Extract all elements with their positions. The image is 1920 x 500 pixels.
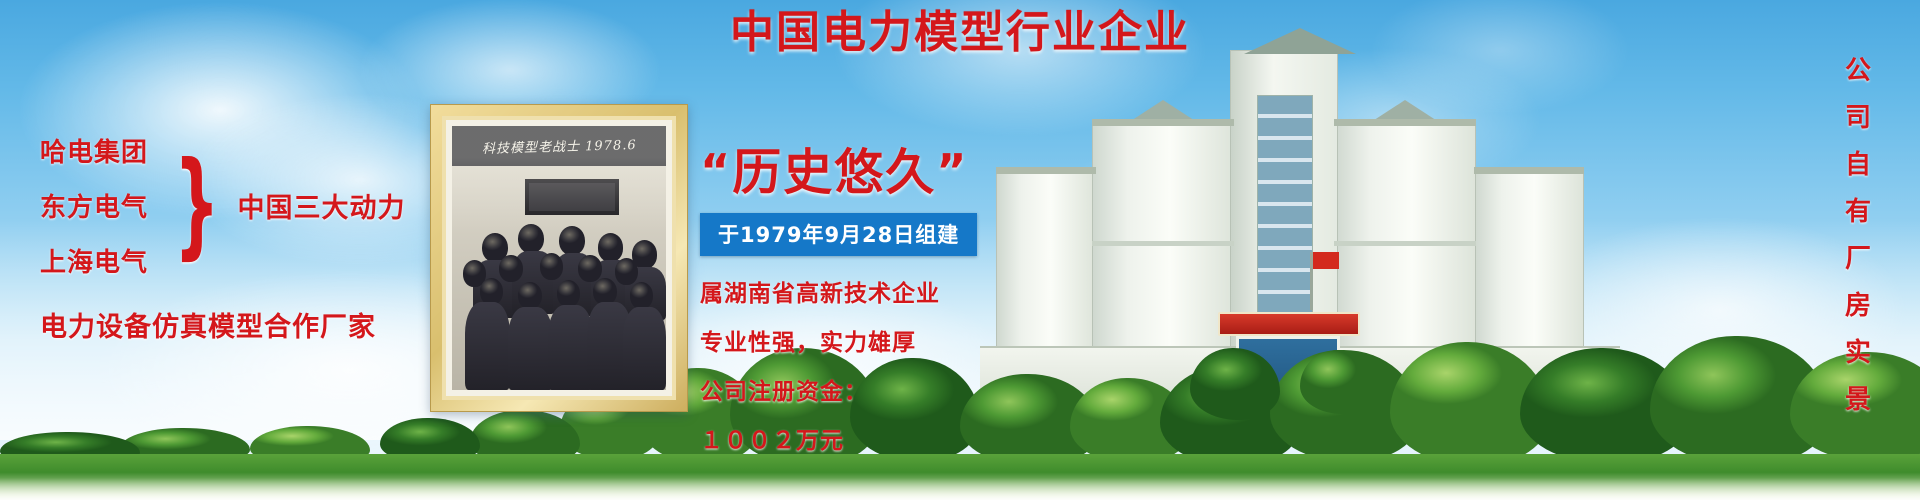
vertical-caption: 公 司 自 有 厂 房 实 景 — [1845, 58, 1872, 413]
vertical-caption-char: 实 — [1845, 340, 1872, 366]
vertical-caption-char: 有 — [1845, 199, 1872, 225]
cornice — [1334, 119, 1476, 126]
page-title: 中国电力模型行业企业 — [0, 8, 1920, 59]
detail-line: 属湖南省高新技术企业 — [700, 274, 977, 308]
detail-line: 专业性强，实力雄厚 — [700, 323, 977, 357]
curly-brace-icon: } — [174, 165, 220, 245]
list-item: 哈电集团 — [40, 132, 148, 169]
partners-block: 哈电集团 东方电气 上海电气 } 中国三大动力 电力设备仿真模型合作厂家 — [40, 132, 406, 344]
balcony-rail — [1092, 241, 1234, 246]
registered-capital-value: １００２万元 — [700, 421, 977, 455]
vertical-caption-char: 司 — [1845, 105, 1872, 131]
cornice — [1092, 119, 1234, 126]
lawn-fade — [0, 478, 1920, 500]
history-detail-lines: 属湖南省高新技术企业 专业性强，实力雄厚 公司注册资金： １００２万元 — [700, 274, 977, 455]
balcony-rail — [1334, 241, 1476, 246]
founding-date-badge: 于1979年9月28日组建 — [700, 213, 977, 256]
detail-line: 公司注册资金： — [700, 372, 977, 406]
history-highlight-block: “历史悠久” 于1979年9月28日组建 属湖南省高新技术企业 专业性强，实力雄… — [700, 148, 977, 470]
shrub — [1190, 348, 1280, 420]
vertical-caption-char: 房 — [1845, 293, 1872, 319]
photo-aging-overlay — [452, 126, 666, 390]
partners-footnote: 电力设备仿真模型合作厂家 — [40, 305, 406, 344]
vertical-caption-char: 景 — [1845, 387, 1872, 413]
history-heading-text: 历史悠久 — [732, 144, 936, 201]
frame-mat: 科技模型老战士 1978.6 — [442, 116, 676, 400]
historic-photo-frame: 科技模型老战士 1978.6 — [430, 104, 688, 412]
promo-banner: 中国电力模型行业企业 哈电集团 东方电气 上海电气 } 中国三大动力 电力设备仿… — [0, 0, 1920, 500]
list-item: 东方电气 — [40, 187, 148, 224]
flagpole — [1310, 252, 1313, 310]
list-item: 上海电气 — [40, 242, 148, 279]
quote-open-mark: “ — [700, 144, 732, 198]
history-heading: “历史悠久” — [700, 148, 977, 197]
cornice — [996, 167, 1096, 174]
historic-group-photo: 科技模型老战士 1978.6 — [452, 126, 666, 390]
vertical-caption-char: 公 — [1845, 58, 1872, 84]
partner-list: 哈电集团 东方电气 上海电气 — [40, 132, 148, 279]
vertical-caption-char: 厂 — [1845, 246, 1872, 272]
cornice — [1474, 167, 1584, 174]
partners-row: 哈电集团 东方电气 上海电气 } 中国三大动力 — [40, 132, 406, 279]
vertical-caption-char: 自 — [1845, 152, 1872, 178]
partners-group-label: 中国三大动力 — [238, 186, 406, 225]
quote-close-mark: ” — [936, 144, 968, 198]
